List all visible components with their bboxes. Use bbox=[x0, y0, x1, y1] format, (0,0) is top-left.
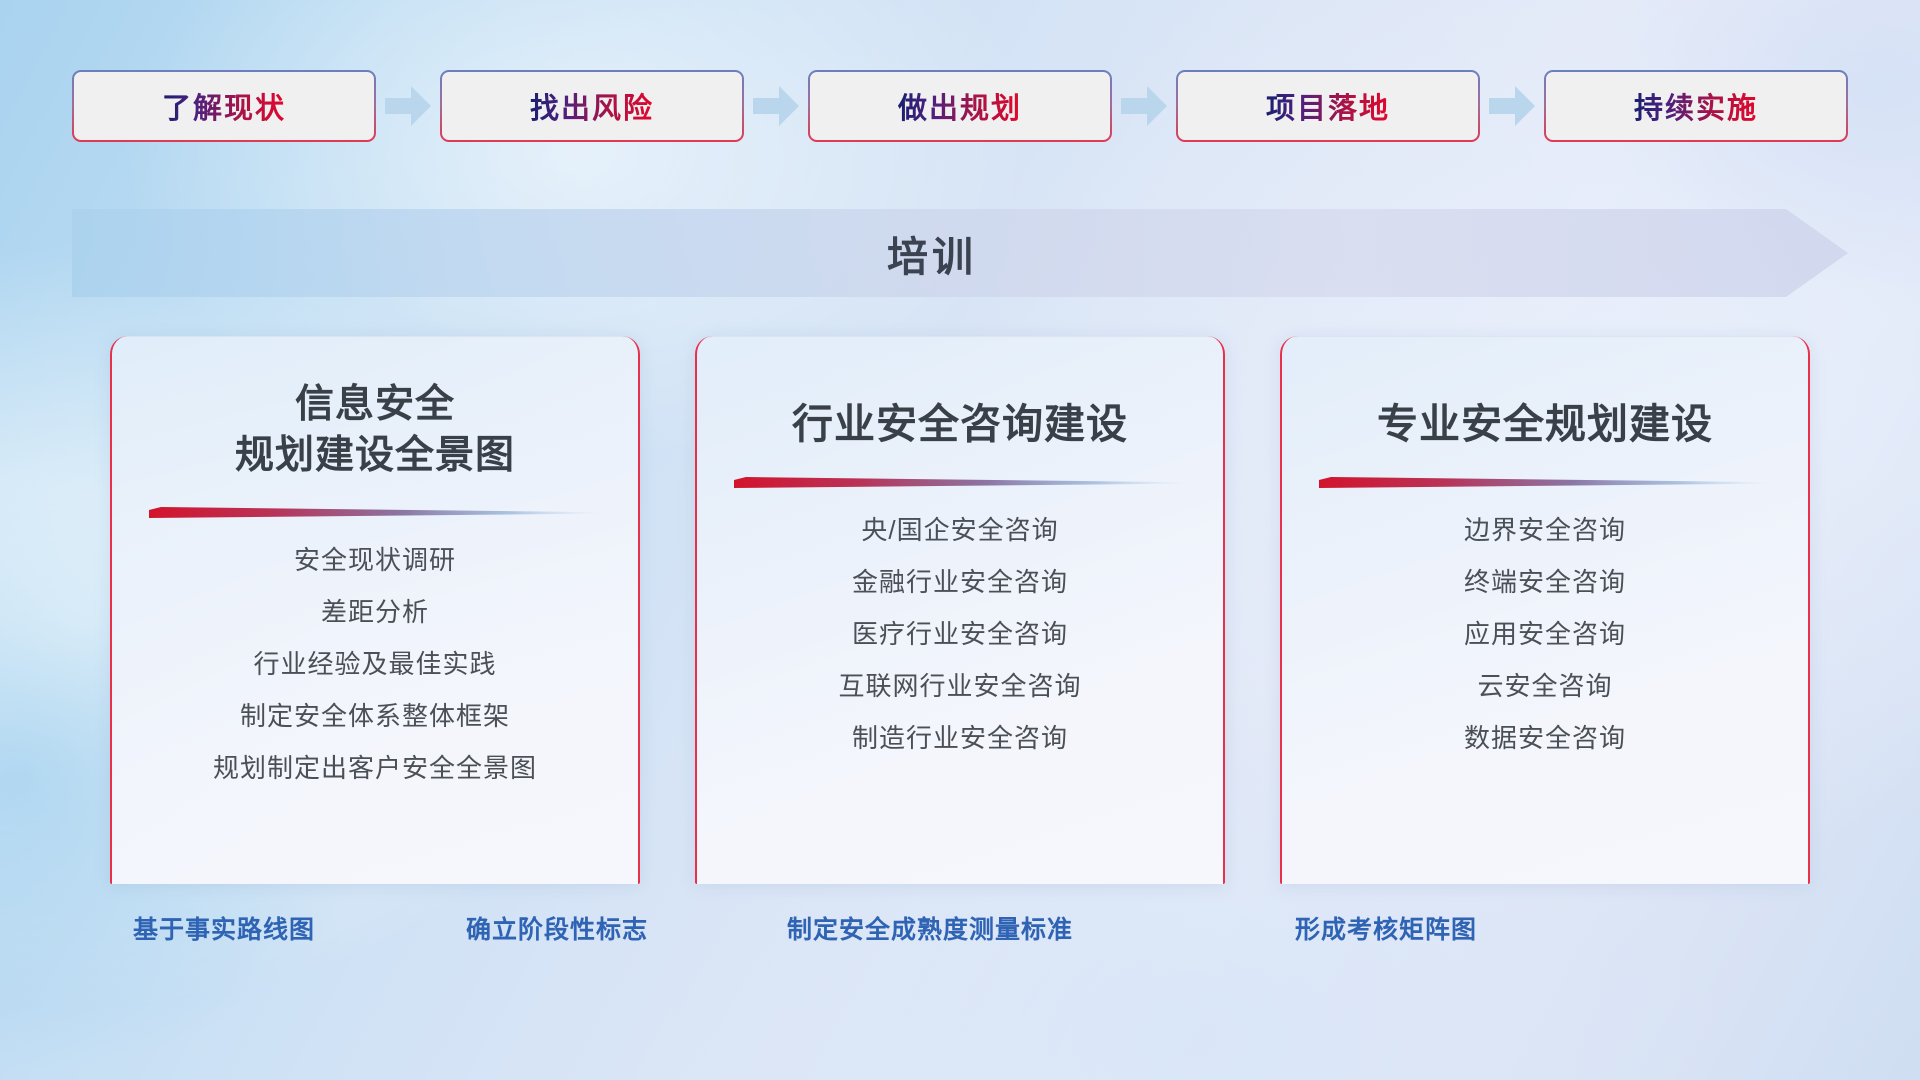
process-step-1-label: 了解现状 bbox=[162, 85, 286, 127]
process-step-2-inner: 找出风险 bbox=[442, 72, 742, 140]
process-step-1[interactable]: 了解现状 bbox=[72, 70, 376, 142]
process-step-3[interactable]: 做出规划 bbox=[808, 70, 1112, 142]
card-industry-consulting[interactable]: 行业安全咨询建设 央/国企安全咨询 金融行业安全咨询 医疗行业安全咨询 bbox=[695, 336, 1225, 884]
list-item: 应用安全咨询 bbox=[1302, 621, 1788, 647]
process-step-5-inner: 持续实施 bbox=[1546, 72, 1846, 140]
card-item-list: 安全现状调研 差距分析 行业经验及最佳实践 制定安全体系整体框架 规划制定出客户… bbox=[112, 521, 638, 781]
caption-milestones: 确立阶段性标志 bbox=[466, 910, 648, 946]
list-item: 差距分析 bbox=[132, 599, 618, 625]
card-security-blueprint[interactable]: 信息安全 规划建设全景图 安全现状调研 差距分析 行业经验及最佳实践 bbox=[110, 336, 640, 884]
process-step-row: 了解现状 找出风险 做出规划 项目落地 bbox=[72, 70, 1848, 142]
caption-maturity-standard: 制定安全成熟度测量标准 bbox=[787, 910, 1073, 946]
list-item: 制定安全体系整体框架 bbox=[132, 703, 618, 729]
list-item: 云安全咨询 bbox=[1302, 673, 1788, 699]
process-step-3-inner: 做出规划 bbox=[810, 72, 1110, 140]
process-step-4-label: 项目落地 bbox=[1266, 85, 1390, 127]
process-step-2[interactable]: 找出风险 bbox=[440, 70, 744, 142]
training-banner: 培训 bbox=[72, 209, 1848, 297]
process-step-5[interactable]: 持续实施 bbox=[1544, 70, 1848, 142]
list-item: 终端安全咨询 bbox=[1302, 569, 1788, 595]
list-item: 医疗行业安全咨询 bbox=[717, 621, 1203, 647]
card-item-list: 央/国企安全咨询 金融行业安全咨询 医疗行业安全咨询 互联网行业安全咨询 制造行… bbox=[697, 491, 1223, 751]
arrow-right-icon bbox=[744, 83, 808, 129]
list-item: 央/国企安全咨询 bbox=[717, 517, 1203, 543]
card-item-list: 边界安全咨询 终端安全咨询 应用安全咨询 云安全咨询 数据安全咨询 bbox=[1282, 491, 1808, 751]
list-item: 金融行业安全咨询 bbox=[717, 569, 1203, 595]
process-step-4-inner: 项目落地 bbox=[1178, 72, 1478, 140]
arrow-right-icon bbox=[1112, 83, 1176, 129]
list-item: 边界安全咨询 bbox=[1302, 517, 1788, 543]
card-divider bbox=[1319, 477, 1771, 491]
process-step-2-label: 找出风险 bbox=[530, 85, 654, 127]
process-step-3-label: 做出规划 bbox=[898, 85, 1022, 127]
process-step-4[interactable]: 项目落地 bbox=[1176, 70, 1480, 142]
card-professional-planning[interactable]: 专业安全规划建设 边界安全咨询 终端安全咨询 应用安全咨询 云安全 bbox=[1280, 336, 1810, 884]
arrow-right-icon bbox=[376, 83, 440, 129]
list-item: 互联网行业安全咨询 bbox=[717, 673, 1203, 699]
card-row: 信息安全 规划建设全景图 安全现状调研 差距分析 行业经验及最佳实践 bbox=[110, 336, 1810, 884]
list-item: 安全现状调研 bbox=[132, 547, 618, 573]
card-title: 信息安全 规划建设全景图 bbox=[112, 336, 638, 481]
list-item: 数据安全咨询 bbox=[1302, 725, 1788, 751]
card-title: 专业安全规划建设 bbox=[1282, 336, 1808, 451]
list-item: 规划制定出客户安全全景图 bbox=[132, 755, 618, 781]
caption-roadmap: 基于事实路线图 bbox=[133, 910, 315, 946]
banner-label: 培训 bbox=[72, 209, 1848, 297]
card-divider bbox=[734, 477, 1186, 491]
card-title: 行业安全咨询建设 bbox=[697, 336, 1223, 451]
list-item: 制造行业安全咨询 bbox=[717, 725, 1203, 751]
process-step-5-label: 持续实施 bbox=[1634, 85, 1758, 127]
caption-assessment-matrix: 形成考核矩阵图 bbox=[1295, 910, 1477, 946]
list-item: 行业经验及最佳实践 bbox=[132, 651, 618, 677]
process-step-1-inner: 了解现状 bbox=[74, 72, 374, 140]
caption-row: 基于事实路线图 确立阶段性标志 制定安全成熟度测量标准 形成考核矩阵图 bbox=[0, 910, 1920, 958]
arrow-right-icon bbox=[1480, 83, 1544, 129]
card-divider bbox=[149, 507, 601, 521]
